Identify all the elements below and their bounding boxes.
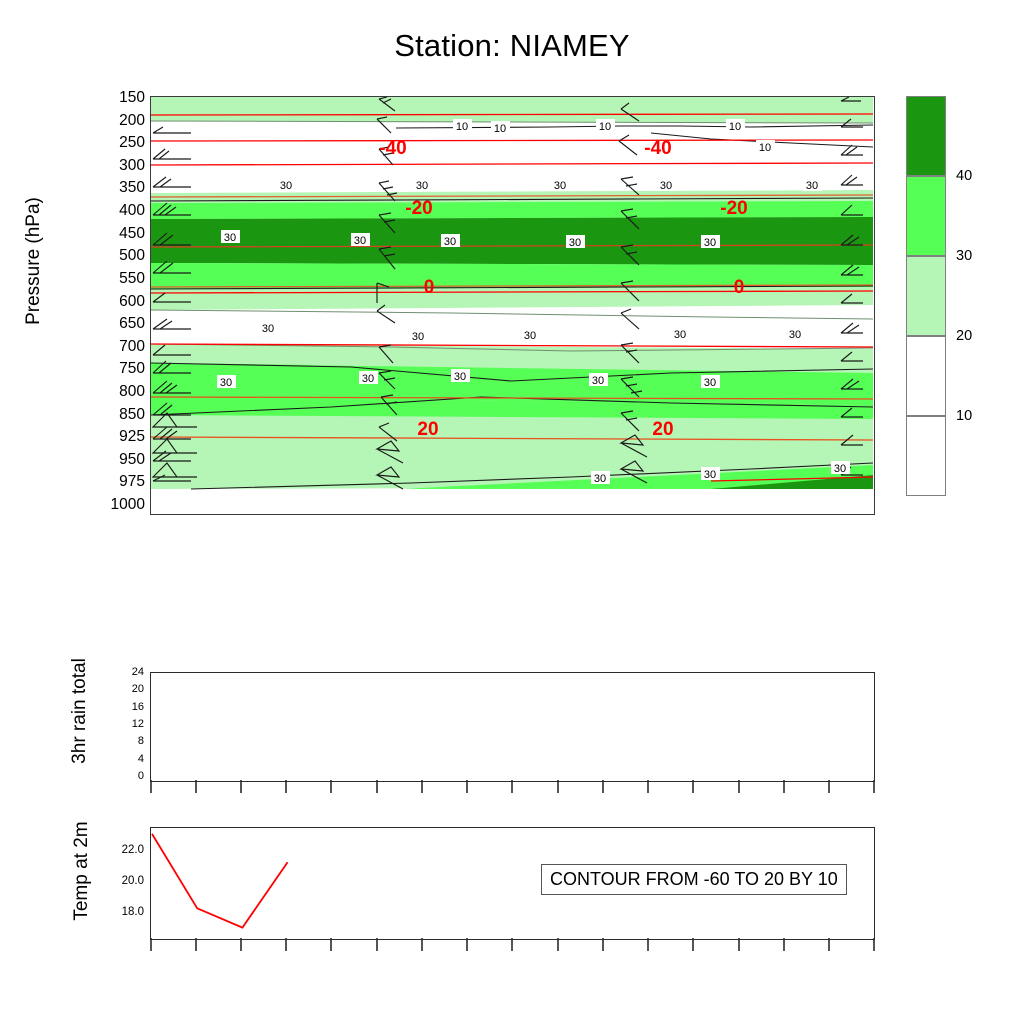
svg-text:30: 30 — [660, 180, 672, 192]
colorbar-tick-label: 20 — [956, 329, 972, 344]
main-y-tick-label: 650 — [119, 316, 145, 332]
colorbar[interactable]: 40302010 — [906, 96, 946, 496]
main-y-tick-label: 500 — [119, 248, 145, 264]
rain-y-tick-labels: 24201612840 — [80, 666, 144, 788]
main-y-tick-label: 700 — [119, 339, 145, 355]
main-y-tick-label: 300 — [119, 158, 145, 174]
svg-text:30: 30 — [416, 180, 428, 192]
rain-y-tick-label: 0 — [138, 771, 144, 782]
main-y-tick-label: 750 — [119, 361, 145, 377]
svg-text:-20: -20 — [405, 198, 432, 219]
svg-text:10: 10 — [599, 121, 611, 133]
main-y-tick-label: 950 — [119, 452, 145, 468]
colorbar-band — [906, 176, 946, 256]
svg-text:-20: -20 — [720, 198, 747, 219]
sounding-plot-svg: 10 10 10 10 10 30 30 30 30 30 30 30 30 3… — [151, 97, 873, 513]
svg-text:30: 30 — [592, 375, 604, 387]
colorbar-tick-label: 40 — [956, 169, 972, 184]
temp-x-axis-ticks — [150, 938, 880, 956]
svg-text:10: 10 — [494, 123, 506, 135]
main-y-tick-label: 150 — [119, 90, 145, 106]
rain-y-tick-label: 16 — [132, 702, 144, 713]
svg-text:-40: -40 — [644, 138, 671, 159]
colorbar-band — [906, 416, 946, 496]
svg-text:20: 20 — [652, 419, 673, 440]
rain-y-tick-label: 12 — [132, 719, 144, 730]
svg-text:10: 10 — [456, 121, 468, 133]
svg-text:30: 30 — [220, 377, 232, 389]
main-y-tick-label: 800 — [119, 384, 145, 400]
rain-x-axis-ticks — [150, 780, 880, 798]
svg-text:30: 30 — [444, 236, 456, 248]
svg-text:10: 10 — [759, 142, 771, 154]
rain-total-panel[interactable] — [150, 672, 875, 782]
main-y-axis-title: Pressure (hPa) — [23, 141, 45, 381]
svg-text:30: 30 — [704, 237, 716, 249]
temp-y-tick-labels: 22.020.018.0 — [80, 820, 144, 946]
svg-text:30: 30 — [554, 180, 566, 192]
contour-annotation: CONTOUR FROM -60 TO 20 BY 10 — [541, 864, 847, 895]
colorbar-tick-label: 30 — [956, 249, 972, 264]
sounding-cross-section-panel[interactable]: 10 10 10 10 10 30 30 30 30 30 30 30 30 3… — [150, 96, 875, 515]
colorbar-band — [906, 336, 946, 416]
rain-y-tick-label: 24 — [132, 667, 144, 678]
svg-text:30: 30 — [806, 180, 818, 192]
svg-text:30: 30 — [224, 232, 236, 244]
main-y-tick-label: 400 — [119, 203, 145, 219]
main-y-tick-label: 450 — [119, 226, 145, 242]
main-y-tick-label: 925 — [119, 429, 145, 445]
page-title: Station: NIAMEY — [0, 28, 1024, 64]
colorbar-band — [906, 96, 946, 176]
svg-text:30: 30 — [594, 473, 606, 485]
svg-text:10: 10 — [729, 121, 741, 133]
rain-y-tick-label: 20 — [132, 684, 144, 695]
rain-plot-svg — [151, 673, 873, 780]
temp-y-tick-label: 20.0 — [122, 876, 144, 888]
svg-text:30: 30 — [789, 329, 801, 341]
main-y-tick-label: 850 — [119, 407, 145, 423]
colorbar-band — [906, 256, 946, 336]
main-y-tick-label: 250 — [119, 135, 145, 151]
main-y-tick-label: 1000 — [111, 497, 145, 513]
svg-text:0: 0 — [734, 277, 745, 298]
main-y-tick-label: 200 — [119, 113, 145, 129]
svg-text:30: 30 — [524, 330, 536, 342]
main-y-tick-label: 975 — [119, 474, 145, 490]
main-y-tick-label: 550 — [119, 271, 145, 287]
colorbar-tick-label: 10 — [956, 409, 972, 424]
svg-text:30: 30 — [454, 371, 466, 383]
svg-text:30: 30 — [834, 463, 846, 475]
svg-text:0: 0 — [424, 277, 435, 298]
svg-text:-40: -40 — [379, 138, 406, 159]
svg-text:30: 30 — [354, 235, 366, 247]
svg-text:30: 30 — [674, 329, 686, 341]
svg-text:30: 30 — [262, 323, 274, 335]
svg-text:30: 30 — [569, 237, 581, 249]
temp-y-tick-label: 22.0 — [122, 845, 144, 857]
svg-text:30: 30 — [280, 180, 292, 192]
main-y-tick-labels: 1502002503003504004505005506006507007508… — [52, 96, 145, 515]
svg-text:20: 20 — [417, 419, 438, 440]
rain-y-tick-label: 4 — [138, 754, 144, 765]
svg-text:30: 30 — [412, 331, 424, 343]
svg-text:30: 30 — [704, 469, 716, 481]
rain-y-tick-label: 8 — [138, 736, 144, 747]
main-y-tick-label: 600 — [119, 294, 145, 310]
main-y-tick-label: 350 — [119, 180, 145, 196]
temp-y-tick-label: 18.0 — [122, 907, 144, 919]
svg-text:30: 30 — [362, 373, 374, 385]
svg-text:30: 30 — [704, 377, 716, 389]
